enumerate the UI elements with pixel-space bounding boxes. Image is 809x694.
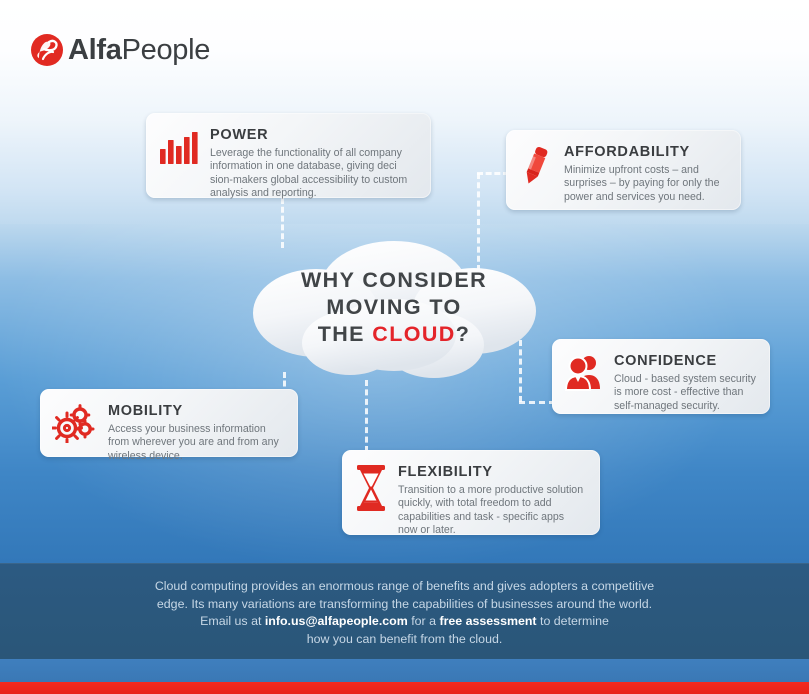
alfapeople-logo: AlfaPeople xyxy=(30,33,210,67)
footer-line-1: Cloud computing provides an enormous ran… xyxy=(0,578,809,596)
connector-confidence-horizontal xyxy=(519,401,555,404)
logo-word-people: People xyxy=(122,34,211,66)
card-desc-mobility: Access your business information from wh… xyxy=(108,423,284,463)
cloud-line-3: THE CLOUD? xyxy=(238,321,550,348)
card-title-flexibility: FLEXIBILITY xyxy=(398,464,586,480)
central-cloud: WHY CONSIDER MOVING TO THE CLOUD? xyxy=(238,231,550,391)
footer-red-bar xyxy=(0,682,809,694)
infographic-canvas: AlfaPeople xyxy=(0,0,809,694)
card-title-mobility: MOBILITY xyxy=(108,403,284,419)
footer-line-3-a: Email us at xyxy=(200,614,265,628)
footer-line-3: Email us at info.us@alfapeople.com for a… xyxy=(0,613,809,631)
card-body: AFFORDABILITY Minimize upfront costs – a… xyxy=(564,144,727,204)
logo-wordmark: AlfaPeople xyxy=(68,36,210,65)
card-title-power: POWER xyxy=(210,127,417,143)
people-group-icon xyxy=(564,353,604,393)
benefit-card-affordability[interactable]: AFFORDABILITY Minimize upfront costs – a… xyxy=(506,130,741,210)
footer-line-3-b: for a xyxy=(408,614,440,628)
cloud-keyword-cloud: CLOUD xyxy=(372,322,455,346)
card-title-affordability: AFFORDABILITY xyxy=(564,144,727,160)
benefit-card-power[interactable]: POWER Leverage the functionality of all … xyxy=(146,113,431,198)
gears-icon xyxy=(52,403,98,443)
alfapeople-logo-icon xyxy=(30,33,64,67)
cloud-line-2: MOVING TO xyxy=(238,294,550,321)
card-desc-power: Leverage the functionality of all compan… xyxy=(210,147,417,201)
card-body: POWER Leverage the functionality of all … xyxy=(210,127,417,201)
footer-blue-bar xyxy=(0,659,809,682)
cloud-line-3-post: ? xyxy=(456,322,471,346)
benefit-card-mobility[interactable]: MOBILITY Access your business informatio… xyxy=(40,389,298,457)
hourglass-icon xyxy=(354,464,388,512)
footer-paragraph: Cloud computing provides an enormous ran… xyxy=(0,578,809,648)
cloud-line-3-pre: THE xyxy=(318,322,373,346)
logo-word-alfa: Alfa xyxy=(68,34,122,66)
benefit-card-confidence[interactable]: CONFIDENCE Cloud - based system security… xyxy=(552,339,770,414)
footer-line-3-c: to determine xyxy=(537,614,609,628)
card-body: MOBILITY Access your business informatio… xyxy=(108,403,284,463)
footer-email[interactable]: info.us@alfapeople.com xyxy=(265,614,408,628)
cloud-line-1: WHY CONSIDER xyxy=(238,267,550,294)
bar-chart-icon xyxy=(158,127,200,167)
card-title-confidence: CONFIDENCE xyxy=(614,353,756,369)
footer-cta: free assessment xyxy=(439,614,536,628)
connector-affordability-horizontal xyxy=(477,172,509,175)
card-desc-flexibility: Transition to a more productive solution… xyxy=(398,484,586,538)
benefit-card-flexibility[interactable]: FLEXIBILITY Transition to a more product… xyxy=(342,450,600,535)
cloud-headline: WHY CONSIDER MOVING TO THE CLOUD? xyxy=(238,267,550,348)
card-body: FLEXIBILITY Transition to a more product… xyxy=(398,464,586,538)
pen-icon xyxy=(518,144,554,186)
card-desc-affordability: Minimize upfront costs – and surprises –… xyxy=(564,164,727,204)
footer-line-2: edge. Its many variations are transformi… xyxy=(0,596,809,614)
card-desc-confidence: Cloud - based system security is more co… xyxy=(614,373,756,413)
card-body: CONFIDENCE Cloud - based system security… xyxy=(614,353,756,413)
footer-line-4: how you can benefit from the cloud. xyxy=(0,631,809,649)
